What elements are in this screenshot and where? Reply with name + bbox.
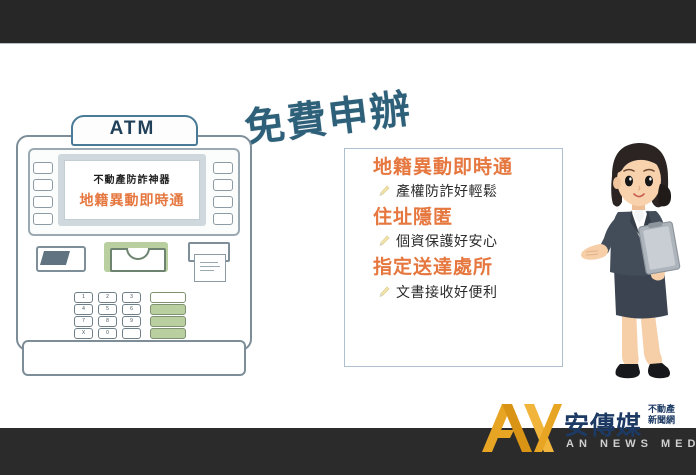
keypad-key-7[interactable]: 7 — [74, 316, 93, 327]
receipt-paper-icon — [194, 254, 226, 282]
function-key-enter[interactable] — [150, 328, 186, 339]
atm-screen-line-1: 不動產防詐神器 — [94, 171, 171, 186]
atm-side-key[interactable] — [33, 213, 53, 225]
keypad-key-1[interactable]: 1 — [74, 292, 93, 303]
feature-subitem-1: 產權防詐好輕鬆 — [377, 181, 552, 201]
atm-side-key[interactable] — [213, 213, 233, 225]
businesswoman-illustration — [578, 140, 688, 382]
function-key-correct[interactable] — [150, 316, 186, 327]
atm-side-key[interactable] — [213, 196, 233, 208]
atm-side-key[interactable] — [213, 162, 233, 174]
poster-canvas: 免費申辦 ATM 不動產防詐神器 地籍異動即時通 — [0, 0, 696, 475]
atm-side-key[interactable] — [213, 179, 233, 191]
feature-heading-3: 指定送達處所 — [373, 256, 552, 279]
letterbox-bar-top — [0, 0, 696, 43]
cash-dispenser-inner — [110, 248, 166, 272]
pen-icon — [377, 184, 391, 198]
atm-side-keys-right[interactable] — [213, 162, 231, 230]
atm-screen: 不動產防詐神器 地籍異動即時通 — [64, 160, 200, 220]
an-monogram-icon — [480, 402, 564, 454]
pen-icon — [377, 285, 391, 299]
top-divider-line — [0, 43, 696, 44]
feature-subitem-2: 個資保護好安心 — [377, 231, 552, 251]
atm-slot-row — [28, 240, 238, 280]
keypad-key-4[interactable]: 4 — [74, 304, 93, 315]
keypad-key-8[interactable]: 8 — [98, 316, 117, 327]
feature-subitem-3: 文書接收好便利 — [377, 282, 552, 302]
feature-heading-2: 住址隱匿 — [373, 206, 552, 229]
atm-illustration: ATM 不動產防詐神器 地籍異動即時通 — [8, 112, 258, 380]
brand-name-cn: 安傳媒 — [564, 406, 642, 442]
atm-base — [22, 340, 246, 376]
keypad-key-0[interactable]: 0 — [98, 328, 117, 339]
atm-keypad[interactable]: 1 2 3 4 5 6 7 8 9 X 0 — [74, 292, 194, 338]
brand-logo[interactable]: 安傳媒 不動產 新聞網 AN NEWS MEDIA — [480, 398, 686, 460]
atm-screen-line-2: 地籍異動即時通 — [80, 190, 185, 210]
keypad-key-3[interactable]: 3 — [122, 292, 141, 303]
card-slot-icon[interactable] — [36, 246, 86, 272]
feature-heading-1: 地籍異動即時通 — [373, 156, 552, 179]
brand-tagline-line-2: 新聞網 — [648, 415, 675, 426]
brand-tagline-cn: 不動產 新聞網 — [648, 404, 675, 426]
page-title: 免費申辦 — [241, 76, 415, 154]
atm-side-key[interactable] — [33, 179, 53, 191]
keypad-key-5[interactable]: 5 — [98, 304, 117, 315]
pen-icon — [377, 234, 391, 248]
keypad-key-9[interactable]: 9 — [122, 316, 141, 327]
atm-side-key[interactable] — [33, 162, 53, 174]
keypad-key-cancel[interactable]: X — [74, 328, 93, 339]
atm-side-keys-left[interactable] — [33, 162, 51, 230]
atm-header-label: ATM — [71, 117, 194, 141]
brand-tagline-line-1: 不動產 — [648, 404, 675, 415]
feature-subitem-2-text: 個資保護好安心 — [396, 231, 498, 251]
feature-subitem-1-text: 產權防詐好輕鬆 — [396, 181, 498, 201]
keypad-key-blank[interactable] — [122, 328, 141, 339]
brand-name-en: AN NEWS MEDIA — [566, 438, 696, 450]
keypad-key-6[interactable]: 6 — [122, 304, 141, 315]
atm-side-key[interactable] — [33, 196, 53, 208]
feature-subitem-3-text: 文書接收好便利 — [396, 282, 498, 302]
feature-panel: 地籍異動即時通 產權防詐好輕鬆 住址隱匿 個資保護好安心 指定送達處所 — [344, 148, 563, 367]
function-key-2[interactable] — [150, 304, 186, 315]
keypad-key-2[interactable]: 2 — [98, 292, 117, 303]
function-key-1[interactable] — [150, 292, 186, 303]
